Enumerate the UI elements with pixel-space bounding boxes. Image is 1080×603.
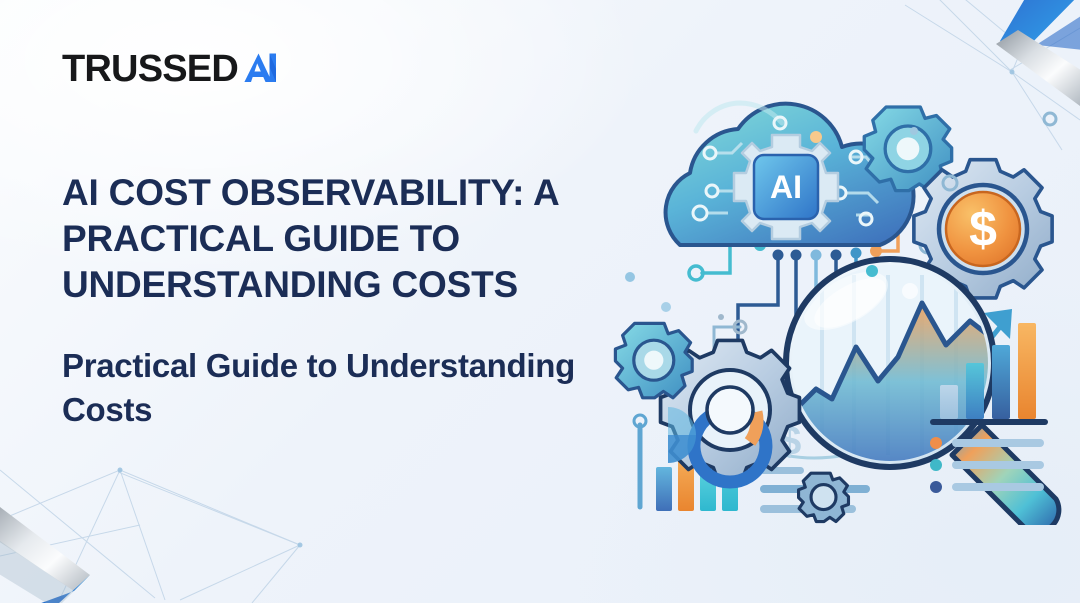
brand-logo[interactable]: TRUSSED	[62, 50, 287, 88]
gear-icon	[799, 473, 849, 521]
page-subtitle: Practical Guide to Understanding Costs	[62, 344, 632, 432]
marketing-banner: TRUSSED AI COST OBSERVABILITY: A PRACTIC…	[0, 0, 1080, 603]
cloud-ai-label: AI	[770, 169, 802, 205]
hero-illustration: AI $	[610, 95, 1080, 525]
gear-icon	[615, 323, 692, 397]
corner-chevron-bottom-left	[0, 479, 146, 603]
dollar-symbol: $	[969, 201, 997, 257]
page-title: AI COST OBSERVABILITY: A PRACTICAL GUIDE…	[62, 170, 632, 308]
hero-copy: AI COST OBSERVABILITY: A PRACTICAL GUIDE…	[62, 170, 632, 431]
ai-monogram-icon	[243, 51, 287, 89]
logo-wordmark: TRUSSED	[62, 50, 238, 88]
